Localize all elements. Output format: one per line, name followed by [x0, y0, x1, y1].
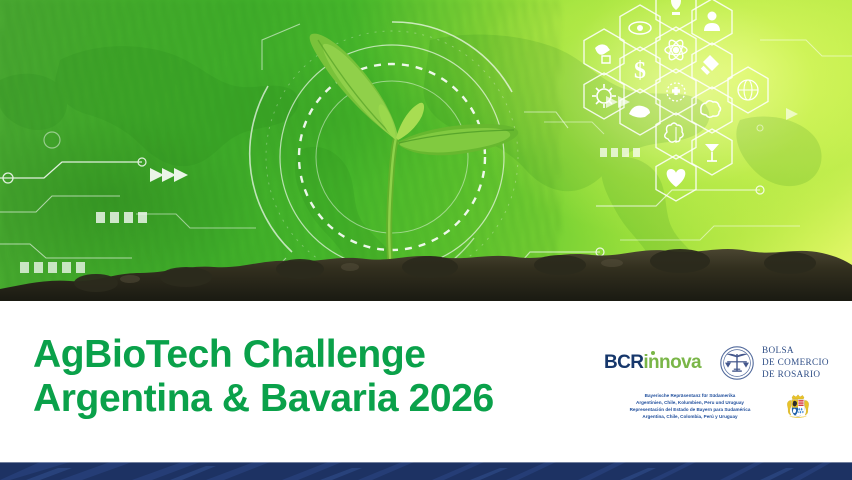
logo-row-primary: BCRinnova — [604, 345, 829, 381]
page-title: AgBioTech Challenge Argentina & Bavaria … — [33, 333, 494, 420]
bolsa-de-comercio-logo[interactable]: BOLSA DE COMERCIO DE ROSARIO — [719, 345, 829, 381]
bolsa-wordmark: BOLSA DE COMERCIO DE ROSARIO — [762, 345, 829, 380]
bayern-es-line-1: Representación del Estado de Bayern para… — [610, 407, 770, 414]
bcr-innova-label-innova: innova — [643, 352, 701, 373]
footer-strip — [0, 462, 852, 480]
bcr-innova-label-bcr: BCR — [604, 352, 643, 373]
footer-top-hairline — [0, 462, 852, 463]
bcr-innova-dot-icon — [651, 351, 655, 355]
bolsa-emblem-icon — [719, 345, 755, 381]
bolsa-line-3: DE ROSARIO — [762, 369, 829, 381]
soil-mound — [0, 239, 852, 301]
bayern-de-line-2: Argentinien, Chile, Kolumbien, Peru und … — [610, 400, 770, 407]
title-line-2: Argentina & Bavaria 2026 — [33, 377, 494, 421]
hero-banner-image: $ — [0, 0, 852, 301]
logo-cluster: BCRinnova — [604, 321, 834, 441]
presentation-slide: $ — [0, 0, 852, 480]
bcr-innova-logo[interactable]: BCRinnova — [604, 352, 701, 374]
title-line-1: AgBioTech Challenge — [33, 333, 494, 377]
bavaria-coat-of-arms-icon — [780, 394, 816, 420]
seedling-plant — [310, 34, 519, 258]
bolsa-line-1: BOLSA — [762, 345, 829, 357]
bayern-representation-logo[interactable]: Bayerische Repräsentanz für Südamerika A… — [610, 393, 816, 421]
svg-text:$: $ — [634, 58, 646, 84]
bayern-wordmark: Bayerische Repräsentanz für Südamerika A… — [610, 393, 770, 421]
bayern-es-line-2: Argentina, Chile, Colombia, Perú y Urugu… — [610, 414, 770, 421]
bolsa-line-2: DE COMERCIO — [762, 357, 829, 369]
bayern-de-line-1: Bayerische Repräsentanz für Südamerika — [610, 393, 770, 400]
footer-ray-pattern — [0, 462, 852, 480]
content-band: AgBioTech Challenge Argentina & Bavaria … — [0, 301, 852, 462]
